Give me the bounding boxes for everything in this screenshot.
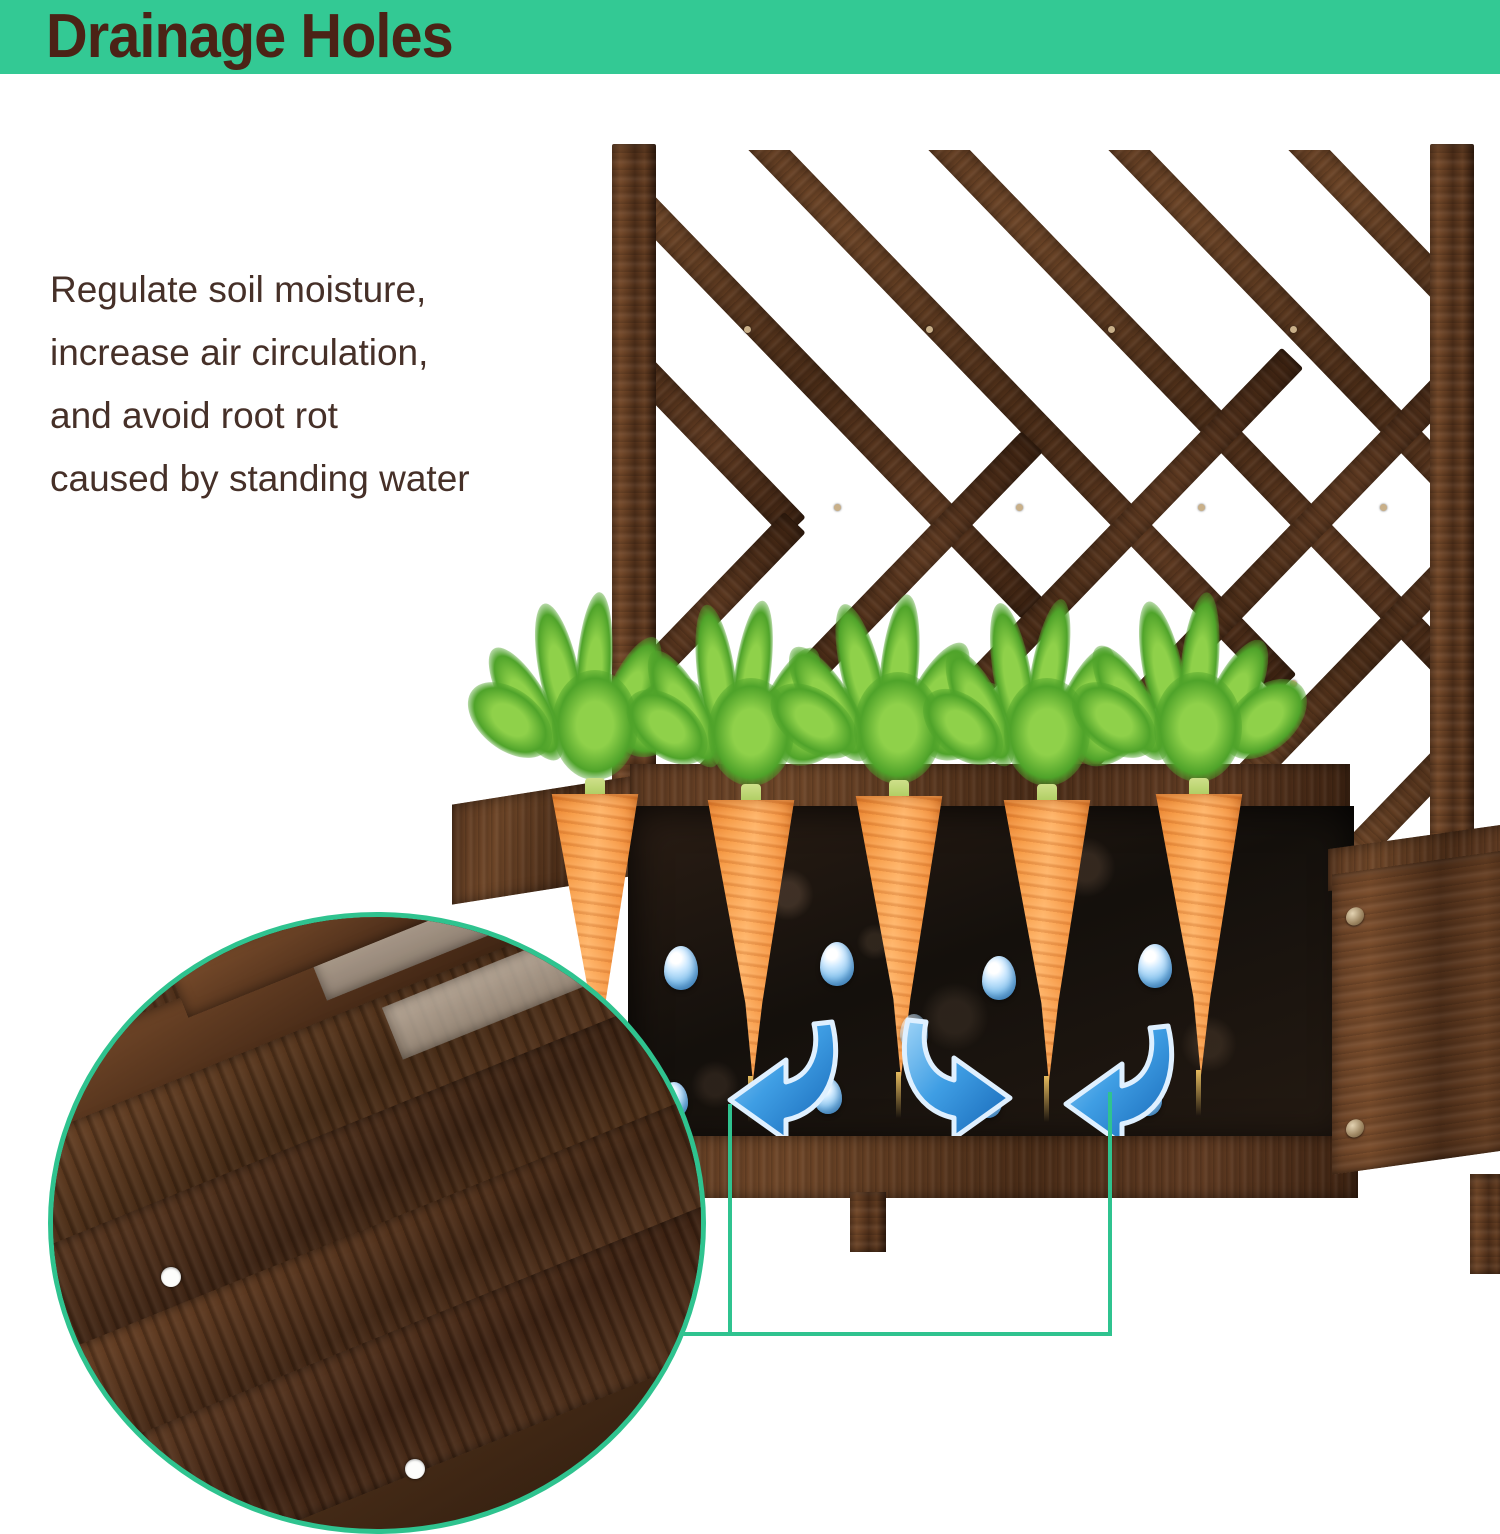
lattice-rivet — [1290, 326, 1297, 333]
planter-front-rail — [628, 1136, 1358, 1198]
airflow-arrow-right — [876, 1006, 1026, 1156]
lattice-rivet — [1108, 326, 1115, 333]
carrot-foliage — [1084, 592, 1314, 792]
lattice-rivet — [744, 326, 751, 333]
lattice-rivet — [926, 326, 933, 333]
planter-leg-front — [850, 1192, 886, 1252]
planter-right-panel — [1332, 845, 1500, 1174]
planter-leg-right — [1470, 1174, 1500, 1274]
screw — [1346, 906, 1364, 927]
water-droplet — [1138, 944, 1172, 988]
drainage-hole — [405, 1459, 425, 1479]
water-droplet — [820, 942, 854, 986]
trellis-post-right — [1430, 144, 1474, 850]
product-illustration — [0, 74, 1500, 1471]
lattice-rivet — [1016, 504, 1023, 511]
screw — [1346, 1118, 1364, 1139]
carrot-tip — [1044, 1076, 1049, 1122]
lattice-rivet — [834, 504, 841, 511]
callout-line-vertical-left — [728, 1104, 732, 1336]
water-droplet — [982, 956, 1016, 1000]
lattice-rivet — [1198, 504, 1205, 511]
page-title: Drainage Holes — [46, 2, 453, 72]
drainage-hole-detail-inset — [48, 912, 706, 1534]
callout-line-vertical-right — [1108, 1092, 1112, 1336]
lattice-rivet — [1380, 504, 1387, 511]
drainage-hole — [161, 1267, 181, 1287]
